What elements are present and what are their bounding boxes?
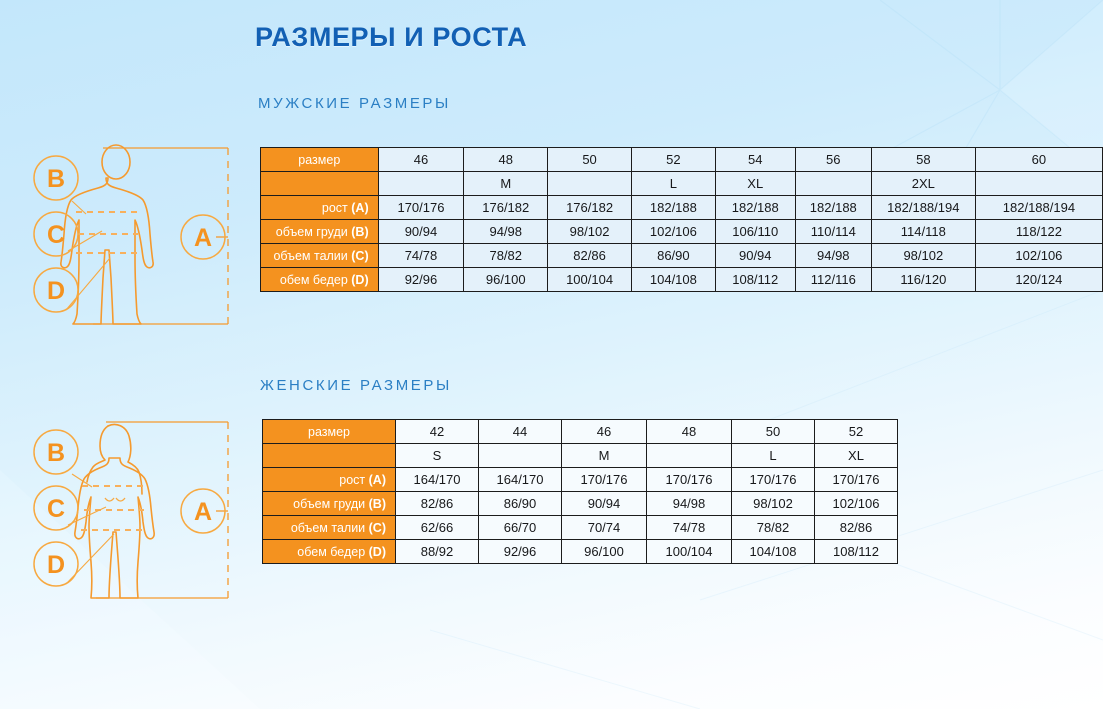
size-chart-page: РАЗМЕРЫ И РОСТА МУЖСКИЕ РАЗМЕРЫ (0, 0, 1103, 709)
cell-chest-3: 94/98 (647, 492, 732, 516)
cell-size-0: 46 (378, 148, 464, 172)
table-row-intl: M L XL 2XL (261, 172, 1103, 196)
row-label-height: рост (A) (261, 196, 379, 220)
label-circle-b: B (34, 156, 78, 200)
row-label-waist: объем талии (C) (261, 244, 379, 268)
cell-hips-1: 96/100 (464, 268, 548, 292)
label-circle-b: B (34, 430, 78, 474)
cell-waist-4: 78/82 (732, 516, 815, 540)
table-row-waist: объем талии (C) 62/66 66/70 70/74 74/78 … (263, 516, 898, 540)
cell-size-2: 46 (562, 420, 647, 444)
cell-chest-2: 98/102 (548, 220, 632, 244)
cell-waist-5: 94/98 (795, 244, 871, 268)
cell-hips-6: 116/120 (871, 268, 975, 292)
cell-size-1: 48 (464, 148, 548, 172)
cell-size-4: 50 (732, 420, 815, 444)
table-row-height: рост (A) 164/170 164/170 170/176 170/176… (263, 468, 898, 492)
cell-height-2: 170/176 (562, 468, 647, 492)
female-body-diagram: B C D A (10, 412, 240, 607)
cell-intl-4: XL (715, 172, 795, 196)
cell-waist-7: 102/106 (975, 244, 1102, 268)
cell-intl-3: L (631, 172, 715, 196)
cell-intl-5 (795, 172, 871, 196)
cell-height-2: 176/182 (548, 196, 632, 220)
cell-chest-4: 106/110 (715, 220, 795, 244)
label-c-text: C (47, 495, 65, 523)
hair-right (108, 424, 142, 494)
label-d-text: D (47, 277, 65, 305)
label-a-text: A (194, 224, 212, 252)
bust-marks (105, 498, 125, 501)
cell-waist-3: 86/90 (631, 244, 715, 268)
cell-height-7: 182/188/194 (975, 196, 1102, 220)
table-row-waist: объем талии (C) 74/78 78/82 82/86 86/90 … (261, 244, 1103, 268)
row-label-intl (263, 444, 396, 468)
row-label-chest: объем груди (B) (263, 492, 396, 516)
cell-size-3: 52 (631, 148, 715, 172)
table-row-size: размер 42 44 46 48 50 52 (263, 420, 898, 444)
cell-size-2: 50 (548, 148, 632, 172)
cell-waist-2: 82/86 (548, 244, 632, 268)
page-title: РАЗМЕРЫ И РОСТА (255, 22, 527, 53)
cell-size-6: 58 (871, 148, 975, 172)
table-row-chest: объем груди (B) 82/86 86/90 90/94 94/98 … (263, 492, 898, 516)
label-c-text: C (47, 221, 65, 249)
table-row-intl: S M L XL (263, 444, 898, 468)
cell-intl-1: M (464, 172, 548, 196)
cell-waist-2: 70/74 (562, 516, 647, 540)
cell-hips-3: 100/104 (647, 540, 732, 564)
cell-hips-0: 92/96 (378, 268, 464, 292)
row-label-intl (261, 172, 379, 196)
cell-height-4: 182/188 (715, 196, 795, 220)
cell-height-0: 170/176 (378, 196, 464, 220)
cell-size-7: 60 (975, 148, 1102, 172)
label-a-text: A (194, 498, 212, 526)
leader-lines (66, 201, 110, 310)
cell-intl-4: L (732, 444, 815, 468)
cell-waist-5: 82/86 (815, 516, 898, 540)
mens-size-table: размер 46 48 50 52 54 56 58 60 M L XL 2X… (260, 147, 1103, 292)
cell-height-5: 182/188 (795, 196, 871, 220)
row-label-size: размер (261, 148, 379, 172)
table-row-hips: обем бедер (D) 92/96 96/100 100/104 104/… (261, 268, 1103, 292)
label-b-text: B (47, 165, 65, 193)
table-row-size: размер 46 48 50 52 54 56 58 60 (261, 148, 1103, 172)
label-circle-c: C (34, 212, 78, 256)
row-label-hips: обем бедер (D) (261, 268, 379, 292)
cell-waist-0: 62/66 (396, 516, 479, 540)
row-label-waist: объем талии (C) (263, 516, 396, 540)
table-row-hips: обем бедер (D) 88/92 92/96 96/100 100/10… (263, 540, 898, 564)
cell-intl-2 (548, 172, 632, 196)
cell-height-1: 164/170 (479, 468, 562, 492)
cell-size-5: 56 (795, 148, 871, 172)
cell-size-5: 52 (815, 420, 898, 444)
cell-height-6: 182/188/194 (871, 196, 975, 220)
cell-hips-1: 92/96 (479, 540, 562, 564)
cell-intl-0 (378, 172, 464, 196)
cell-size-0: 42 (396, 420, 479, 444)
cell-hips-5: 108/112 (815, 540, 898, 564)
cell-chest-0: 90/94 (378, 220, 464, 244)
cell-intl-1 (479, 444, 562, 468)
row-label-size: размер (263, 420, 396, 444)
cell-chest-0: 82/86 (396, 492, 479, 516)
cell-height-1: 176/182 (464, 196, 548, 220)
male-silhouette (61, 145, 153, 324)
cell-chest-4: 98/102 (732, 492, 815, 516)
cell-chest-5: 102/106 (815, 492, 898, 516)
cell-height-4: 170/176 (732, 468, 815, 492)
cell-hips-2: 100/104 (548, 268, 632, 292)
cell-hips-0: 88/92 (396, 540, 479, 564)
cell-waist-1: 66/70 (479, 516, 562, 540)
cell-hips-7: 120/124 (975, 268, 1102, 292)
cell-chest-7: 118/122 (975, 220, 1102, 244)
cell-size-3: 48 (647, 420, 732, 444)
cell-hips-5: 112/116 (795, 268, 871, 292)
cell-height-3: 170/176 (647, 468, 732, 492)
table-row-chest: объем груди (B) 90/94 94/98 98/102 102/1… (261, 220, 1103, 244)
cell-waist-6: 98/102 (871, 244, 975, 268)
cell-waist-4: 90/94 (715, 244, 795, 268)
cell-intl-2: M (562, 444, 647, 468)
cell-intl-0: S (396, 444, 479, 468)
cell-waist-1: 78/82 (464, 244, 548, 268)
label-d-text: D (47, 551, 65, 579)
label-circle-d: D (34, 268, 78, 312)
cell-height-0: 164/170 (396, 468, 479, 492)
cell-hips-4: 108/112 (715, 268, 795, 292)
cell-chest-1: 94/98 (464, 220, 548, 244)
label-b-text: B (47, 439, 65, 467)
measurement-lines (76, 212, 140, 253)
cell-height-3: 182/188 (631, 196, 715, 220)
cell-intl-7 (975, 172, 1102, 196)
cell-chest-1: 86/90 (479, 492, 562, 516)
label-circle-c: C (34, 486, 78, 530)
cell-hips-3: 104/108 (631, 268, 715, 292)
cell-size-1: 44 (479, 420, 562, 444)
row-label-height: рост (A) (263, 468, 396, 492)
cell-chest-5: 110/114 (795, 220, 871, 244)
cell-chest-2: 90/94 (562, 492, 647, 516)
cell-hips-4: 104/108 (732, 540, 815, 564)
cell-chest-6: 114/118 (871, 220, 975, 244)
cell-waist-0: 74/78 (378, 244, 464, 268)
row-label-chest: объем груди (B) (261, 220, 379, 244)
mens-section-title: МУЖСКИЕ РАЗМЕРЫ (258, 95, 451, 112)
cell-hips-2: 96/100 (562, 540, 647, 564)
cell-intl-3 (647, 444, 732, 468)
cell-intl-6: 2XL (871, 172, 975, 196)
cell-waist-3: 74/78 (647, 516, 732, 540)
cell-height-5: 170/176 (815, 468, 898, 492)
womens-size-table: размер 42 44 46 48 50 52 S M L XL рост (… (262, 419, 898, 564)
female-silhouette (75, 424, 154, 598)
measurement-lines (81, 486, 147, 530)
cell-size-4: 54 (715, 148, 795, 172)
row-label-hips: обем бедер (D) (263, 540, 396, 564)
cell-chest-3: 102/106 (631, 220, 715, 244)
label-circle-d: D (34, 542, 78, 586)
table-row-height: рост (A) 170/176 176/182 176/182 182/188… (261, 196, 1103, 220)
womens-section-title: ЖЕНСКИЕ РАЗМЕРЫ (260, 377, 452, 394)
cell-intl-5: XL (815, 444, 898, 468)
male-body-diagram: B C D A (10, 138, 240, 333)
